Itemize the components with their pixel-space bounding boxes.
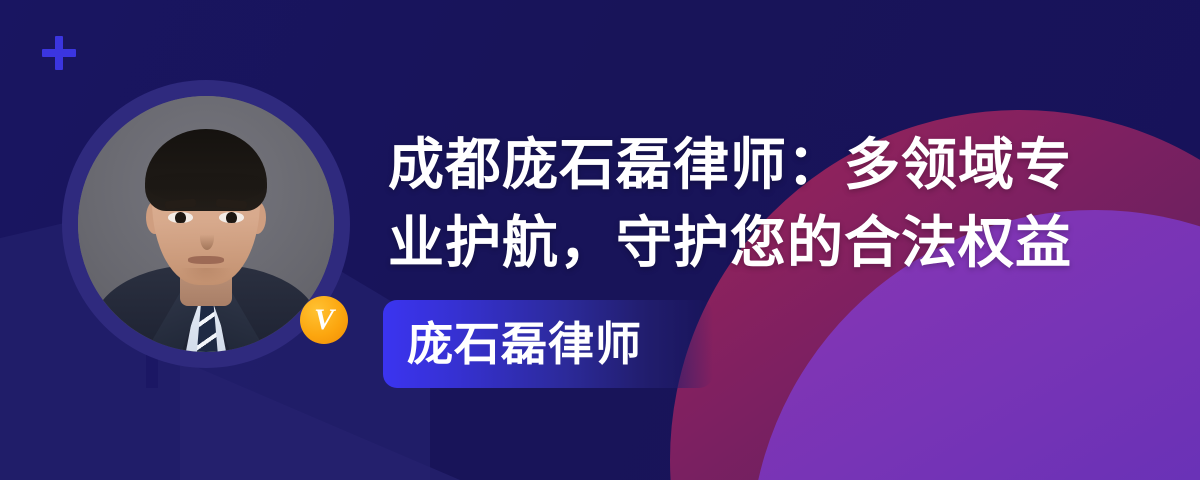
plus-icon-bar-vertical — [55, 36, 63, 70]
lawyer-name-badge-label: 庞石磊律师 — [383, 321, 642, 367]
page-title: 成都庞石磊律师：多领域专业护航，守护您的合法权益 — [388, 126, 1088, 282]
lawyer-promo-banner: V 成都庞石磊律师：多领域专业护航，守护您的合法权益 庞石磊律师 — [0, 0, 1200, 480]
verified-check-icon: V — [300, 296, 348, 344]
avatar-photo — [78, 96, 334, 352]
portrait-mouth — [188, 256, 224, 264]
portrait-chin — [180, 268, 231, 283]
avatar[interactable]: V — [62, 80, 350, 368]
portrait-nose — [200, 224, 214, 250]
lawyer-name-badge[interactable]: 庞石磊律师 — [383, 300, 713, 388]
plus-icon — [42, 36, 76, 70]
